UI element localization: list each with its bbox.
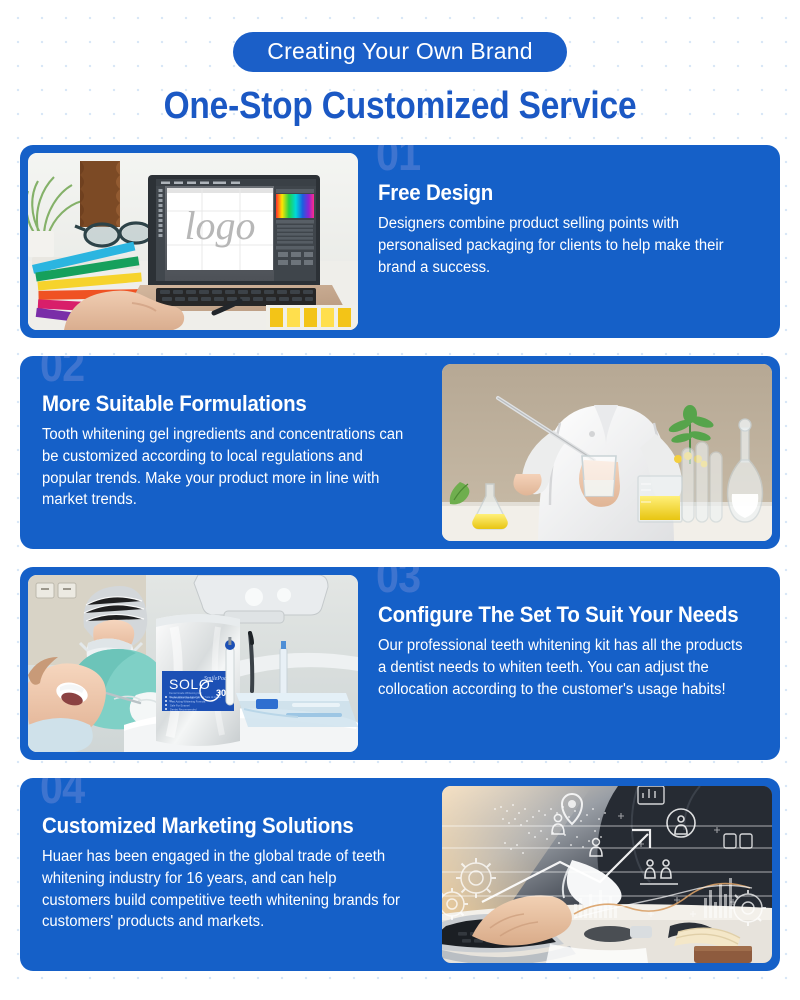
card-body: 01 Free Design Designers combine product… [366, 145, 780, 338]
header-pill-badge: Creating Your Own Brand [233, 32, 566, 72]
card-number-watermark: 01 [376, 145, 420, 177]
logo-design-laptop-photo: logo [28, 153, 358, 330]
card-number-watermark: 04 [40, 778, 84, 810]
svg-text:Dental Grade Whitening Gel: Dental Grade Whitening Gel [169, 691, 202, 695]
svg-text:Fast Acting Whitening Formula: Fast Acting Whitening Formula [170, 700, 206, 704]
global-marketing-analytics-photo [442, 786, 772, 963]
svg-text:Professional Strength Gel: Professional Strength Gel [170, 696, 200, 700]
card-free-design: logo [20, 145, 780, 338]
card-description: Designers combine product selling points… [378, 213, 752, 278]
card-title: More Suitable Formulations [42, 392, 392, 416]
card-title: Free Design [378, 181, 737, 205]
page-header: Creating Your Own Brand One-Stop Customi… [0, 0, 800, 128]
logo-canvas-text: logo [184, 203, 255, 248]
card-description: Tooth whitening gel ingredients and conc… [42, 424, 407, 511]
card-description: Huaer has been engaged in the global tra… [42, 846, 407, 933]
infographic-page: Creating Your Own Brand One-Stop Customi… [0, 0, 800, 1000]
card-configure-the-set: SOLO SmilePod Dental Grade Whitening Gel… [20, 567, 780, 760]
card-description: Our professional teeth whitening kit has… [378, 635, 754, 700]
page-title: One-Stop Customized Service [48, 85, 752, 128]
card-body: 02 More Suitable Formulations Tooth whit… [20, 356, 434, 549]
product-badge-text: 30 [216, 688, 226, 698]
laboratory-formulation-photo [442, 364, 772, 541]
svg-text:Safe For Enamel: Safe For Enamel [170, 704, 190, 708]
card-customized-marketing-solutions: 04 Customized Marketing Solutions Huaer … [20, 778, 780, 971]
svg-text:Dentist Recommended: Dentist Recommended [170, 708, 197, 712]
card-number-watermark: 03 [376, 567, 420, 599]
card-title: Customized Marketing Solutions [42, 814, 392, 838]
card-title: Configure The Set To Suit Your Needs [378, 603, 738, 627]
card-body: 03 Configure The Set To Suit Your Needs … [366, 567, 780, 760]
cards-list: logo [0, 145, 800, 971]
dentist-whitening-kit-photo: SOLO SmilePod Dental Grade Whitening Gel… [28, 575, 358, 752]
card-more-suitable-formulations: 02 More Suitable Formulations Tooth whit… [20, 356, 780, 549]
card-body: 04 Customized Marketing Solutions Huaer … [20, 778, 434, 971]
card-number-watermark: 02 [40, 356, 84, 388]
